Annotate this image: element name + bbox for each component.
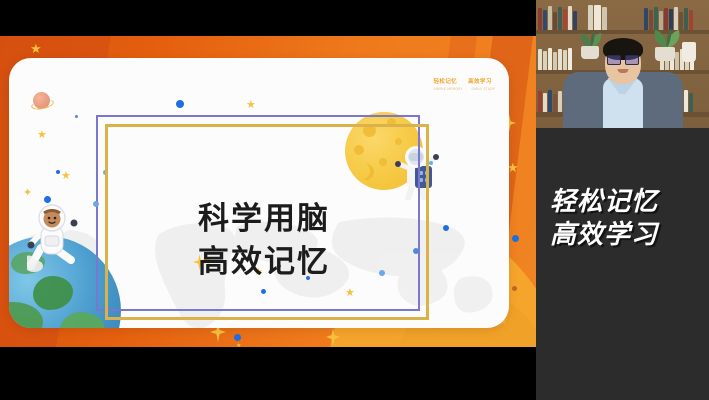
caption-text: 轻松记忆 高效学习: [550, 186, 658, 253]
brand-lockup: 轻松记忆 高效学习 SIMPLE MEMORY EARLY STUDY: [434, 77, 495, 91]
brand-en-left: SIMPLE MEMORY: [434, 87, 463, 91]
screen: MEMORY ★ ★ ★ ★: [0, 0, 709, 400]
star-decoration: ★: [246, 100, 256, 111]
video-sidebar[interactable]: 轻松记忆 高效学习: [536, 0, 709, 400]
shelf-board: [536, 30, 709, 34]
caption-line1: 轻松记忆: [550, 186, 658, 219]
slide-card: 轻松记忆 高效学习 SIMPLE MEMORY EARLY STUDY: [9, 58, 509, 328]
slide-title-line1: 科学用脑: [119, 198, 409, 241]
dot-decoration: [176, 100, 184, 108]
astronaut-earth-icon: [27, 204, 83, 276]
book-row: [538, 6, 577, 30]
glasses-icon: [607, 55, 639, 63]
dot-decoration: [443, 225, 449, 231]
star-decoration: ★: [37, 130, 47, 141]
dot-decoration: [44, 196, 51, 203]
dot-decoration: [512, 286, 517, 291]
dot-decoration: [429, 161, 433, 165]
star-decoration: ★: [30, 42, 42, 55]
dot-decoration: [234, 334, 241, 341]
brand-cn-right: 高效学习: [468, 77, 492, 85]
brand-cn-left: 轻松记忆: [434, 77, 458, 85]
dot-decoration: [93, 201, 99, 207]
slide-region[interactable]: MEMORY ★ ★ ★ ★: [0, 0, 536, 400]
brand-cn: 轻松记忆 高效学习: [434, 77, 495, 85]
slide-title: 科学用脑 高效记忆: [119, 198, 409, 284]
sparkle-decoration: [326, 328, 340, 347]
dot-decoration: [75, 115, 78, 118]
dot-decoration: [56, 170, 60, 174]
brand-en-right: EARLY STUDY: [472, 87, 495, 91]
presenter-figure: [536, 38, 709, 128]
presentation-slide[interactable]: MEMORY ★ ★ ★ ★: [0, 36, 536, 347]
caption-panel: 轻松记忆 高效学习: [536, 128, 709, 400]
star-decoration: ★: [61, 171, 71, 182]
star-decoration: ✦: [23, 188, 32, 199]
dot-decoration: [512, 235, 519, 242]
book-row: [588, 4, 607, 30]
brand-en: SIMPLE MEMORY EARLY STUDY: [434, 87, 495, 91]
star-decoration: ★: [236, 343, 241, 347]
slide-title-line2: 高效记忆: [119, 241, 409, 284]
caption-line2: 高效学习: [550, 219, 658, 252]
presenter-video-tile[interactable]: [536, 0, 709, 128]
